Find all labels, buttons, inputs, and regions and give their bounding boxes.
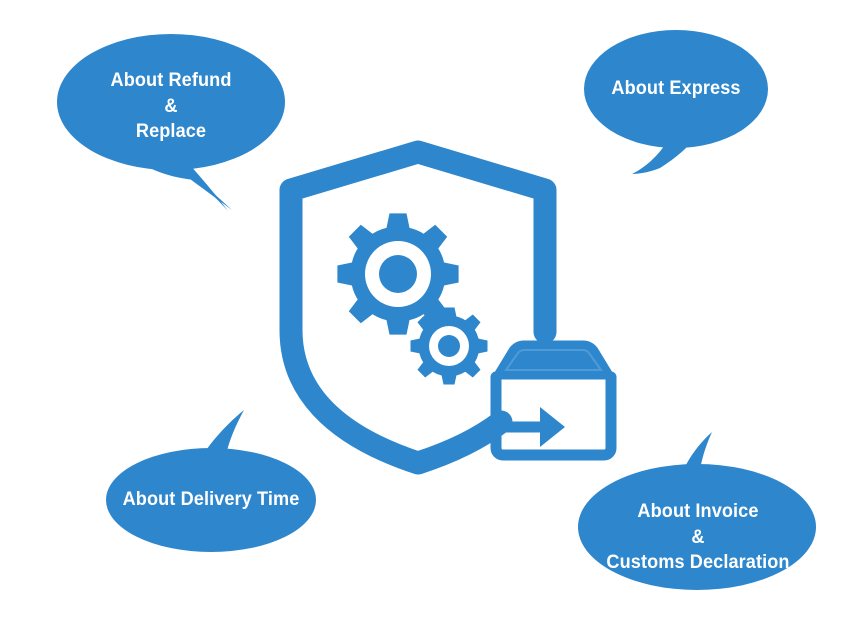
infographic-scene xyxy=(0,0,850,628)
box-body xyxy=(496,377,611,455)
speech-bubble-express[interactable] xyxy=(584,30,768,174)
bubble-body-express xyxy=(584,30,768,148)
package-box-icon xyxy=(495,346,611,455)
large-gear-icon xyxy=(337,213,458,334)
speech-bubble-delivery[interactable] xyxy=(106,410,316,552)
bubble-body-invoice xyxy=(578,464,816,590)
bubble-body-refund xyxy=(57,34,285,170)
bubble-body-delivery xyxy=(106,448,316,552)
speech-bubble-refund[interactable] xyxy=(57,34,285,211)
infographic-canvas: About Refund & Replace About Express Abo… xyxy=(0,0,850,628)
small-gear-icon xyxy=(411,308,488,385)
